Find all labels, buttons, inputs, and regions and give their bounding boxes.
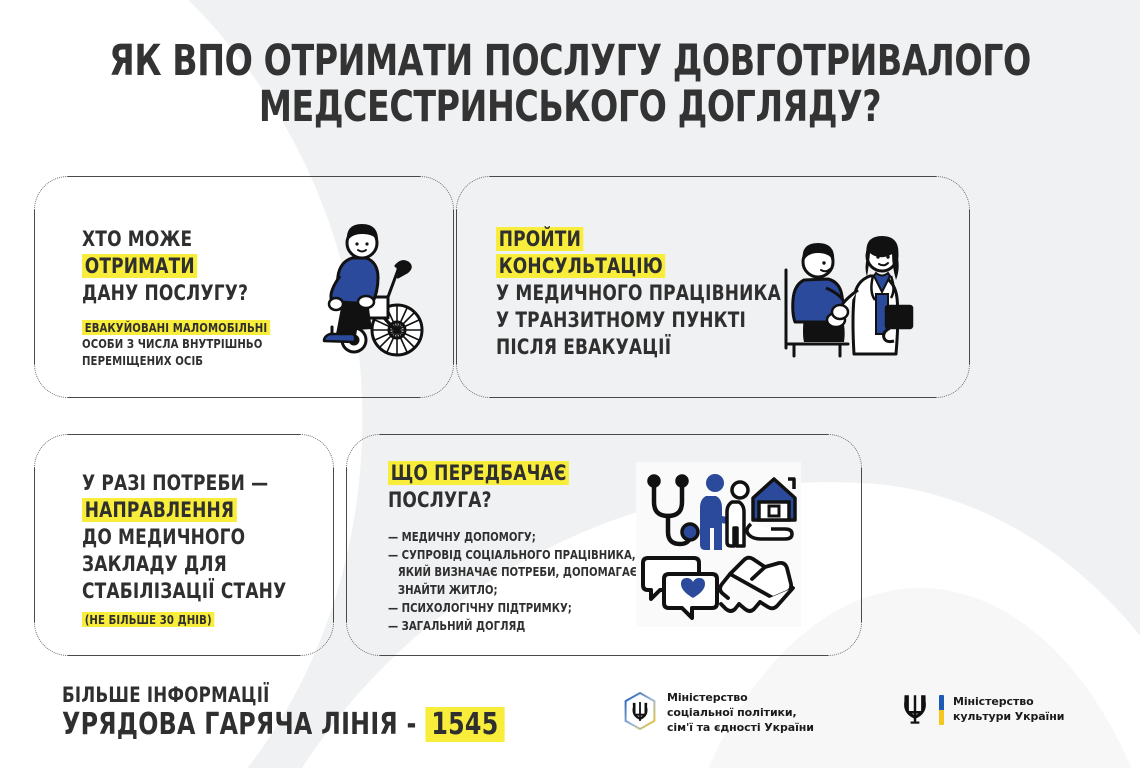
heading-line-highlighted: КОНСУЛЬТАЦІЮ xyxy=(496,254,666,278)
subtext-line: ПЕРЕМІЩЕНИХ ОСІБ xyxy=(82,353,203,368)
heading-line-highlighted: ПРОЙТИ xyxy=(496,227,584,251)
speech-bubbles-heart-icon xyxy=(643,558,717,618)
doctor-patient-illustration xyxy=(774,224,924,364)
list-item-line: — МЕДИЧНУ ДОПОМОГУ; xyxy=(388,529,536,544)
list-item: — СУПРОВІД СОЦІАЛЬНОГО ПРАЦІВНИКА, ЯКИЙ … xyxy=(388,546,640,599)
heading-line: У МЕДИЧНОГО ПРАЦІВНИКА xyxy=(496,281,781,305)
ukraine-flag-bar xyxy=(939,695,944,725)
list-item-line: — СУПРОВІД СОЦІАЛЬНОГО ПРАЦІВНИКА, xyxy=(388,547,636,562)
logo-text: Міністерство культури України xyxy=(953,695,1064,724)
heading-line: ДАНУ ПОСЛУГУ? xyxy=(82,281,248,305)
list-item-line: ЯКИЙ ВИЗНАЧАЄ ПОТРЕБИ, ДОПОМАГАЄ xyxy=(388,563,640,581)
footer-hotline-number: 1545 xyxy=(425,707,504,742)
footer-hotline-block: БІЛЬШЕ ІНФОРМАЦІЇ УРЯДОВА ГАРЯЧА ЛІНІЯ -… xyxy=(62,684,505,742)
heading-line-highlighted: НАПРАВЛЕННЯ xyxy=(82,498,237,522)
subtext-line-highlighted: ЕВАКУЙОВАНІ МАЛОМОБІЛЬНІ xyxy=(82,320,270,335)
card-heading: ЩО ПЕРЕДБАЧАЄ ПОСЛУГА? xyxy=(388,460,640,514)
page-title-line-2: МЕДСЕСТРИНСЬКОГО ДОГЛЯДУ? xyxy=(80,84,1060,130)
logo-text-line: культури України xyxy=(953,710,1064,723)
footer-more-info: БІЛЬШЕ ІНФОРМАЦІЇ xyxy=(62,684,505,708)
stethoscope-bell xyxy=(682,524,698,540)
heading-line: У ТРАНЗИТНОМУ ПУНКТІ xyxy=(496,308,746,332)
list-item-line: — ЗАГАЛЬНИЙ ДОГЛЯД xyxy=(388,618,525,633)
heading-line: ПІСЛЯ ЕВАКУАЦІЇ xyxy=(496,335,671,359)
card-subtext: ЕВАКУЙОВАНІ МАЛОМОБІЛЬНІ ОСОБИ З ЧИСЛА В… xyxy=(82,320,276,370)
logo-text-line: Міністерство xyxy=(667,691,748,704)
card-what-includes: ЩО ПЕРЕДБАЧАЄ ПОСЛУГА? — МЕДИЧНУ ДОПОМОГ… xyxy=(346,434,862,656)
list-item: — ПСИХОЛОГІЧНУ ПІДТРИМКУ; xyxy=(388,599,640,617)
logo-text: Міністерство соціальної політики, сім'ї … xyxy=(667,691,814,735)
heading-line-highlighted: ОТРИМАТИ xyxy=(82,254,198,278)
list-item-line: — ПСИХОЛОГІЧНУ ПІДТРИМКУ; xyxy=(388,600,572,615)
trident-hexagon-emblem xyxy=(622,691,658,736)
page-title: ЯК ВПО ОТРИМАТИ ПОСЛУГУ ДОВГОТРИВАЛОГО М… xyxy=(80,38,1060,131)
handshake-icon xyxy=(720,558,793,611)
house-in-hand-icon xyxy=(747,479,795,539)
subtext-line: ОСОБИ З ЧИСЛА ВНУТРІШНЬО xyxy=(82,336,262,351)
list-item-line: ЗНАЙТИ ЖИТЛО; xyxy=(388,581,640,599)
heading-line-highlighted: ЩО ПЕРЕДБАЧАЄ xyxy=(388,461,569,485)
heading-line: ПОСЛУГА? xyxy=(388,488,492,512)
card-heading: У РАЗІ ПОТРЕБИ — НАПРАВЛЕННЯ ДО МЕДИЧНОГ… xyxy=(82,470,298,604)
card-heading: ПРОЙТИ КОНСУЛЬТАЦІЮ У МЕДИЧНОГО ПРАЦІВНИ… xyxy=(496,226,784,360)
two-people-icon xyxy=(700,474,748,550)
page-title-line-1: ЯК ВПО ОТРИМАТИ ПОСЛУГУ ДОВГОТРИВАЛОГО xyxy=(109,36,1031,86)
heading-line: СТАБІЛІЗАЦІЇ СТАНУ xyxy=(82,579,286,603)
subtext-line-highlighted: (НЕ БІЛЬШЕ 30 ДНІВ) xyxy=(82,612,214,627)
heading-line: У РАЗІ ПОТРЕБИ — xyxy=(82,471,268,495)
heading-line: ЗАКЛАДУ ДЛЯ xyxy=(82,552,227,576)
logo-ministry-social-policy: Міністерство соціальної політики, сім'ї … xyxy=(622,691,814,736)
heading-line: ДО МЕДИЧНОГО xyxy=(82,525,245,549)
footer-hotline: УРЯДОВА ГАРЯЧА ЛІНІЯ - 1545 xyxy=(62,708,505,743)
heading-line: ХТО МОЖЕ xyxy=(82,227,192,251)
card-referral: У РАЗІ ПОТРЕБИ — НАПРАВЛЕННЯ ДО МЕДИЧНОГ… xyxy=(34,434,334,656)
list-item: — ЗАГАЛЬНИЙ ДОГЛЯД xyxy=(388,617,640,635)
trident-emblem xyxy=(900,690,930,730)
logo-text-line: сім'ї та єдності України xyxy=(667,721,814,734)
logo-ministry-culture: Міністерство культури України xyxy=(900,690,1064,730)
card-subtext: (НЕ БІЛЬШЕ 30 ДНІВ) xyxy=(82,612,298,629)
infographic-page: ЯК ВПО ОТРИМАТИ ПОСЛУГУ ДОВГОТРИВАЛОГО М… xyxy=(0,0,1140,768)
footer-hotline-label: УРЯДОВА ГАРЯЧА ЛІНІЯ - xyxy=(62,707,417,742)
card-who-can-receive: ХТО МОЖЕ ОТРИМАТИ ДАНУ ПОСЛУГУ? ЕВАКУЙОВ… xyxy=(34,176,454,398)
service-list: — МЕДИЧНУ ДОПОМОГУ; — СУПРОВІД СОЦІАЛЬНО… xyxy=(388,528,640,635)
list-item: — МЕДИЧНУ ДОПОМОГУ; xyxy=(388,528,640,546)
logo-text-line: Міністерство xyxy=(953,695,1034,708)
logo-text-line: соціальної політики, xyxy=(667,706,797,719)
wheelchair-user-illustration xyxy=(292,214,442,364)
services-icons-grid xyxy=(636,462,801,627)
card-consultation: ПРОЙТИ КОНСУЛЬТАЦІЮ У МЕДИЧНОГО ПРАЦІВНИ… xyxy=(456,176,970,398)
card-heading: ХТО МОЖЕ ОТРИМАТИ ДАНУ ПОСЛУГУ? xyxy=(82,226,276,307)
